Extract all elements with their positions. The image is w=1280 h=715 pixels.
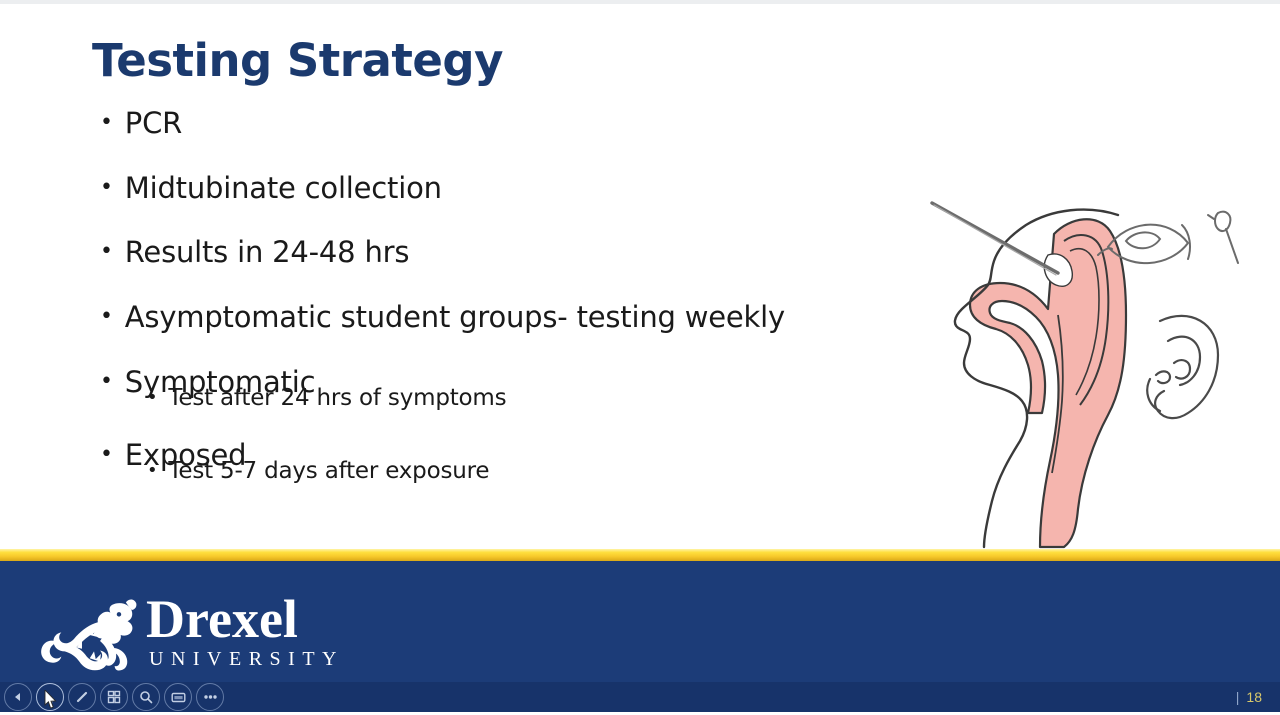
page-number: 18 (1246, 689, 1262, 705)
bullet-text: PCR (125, 108, 880, 139)
previous-slide-button[interactable] (4, 683, 32, 711)
bullet-list: •PCR•Midtubinate collection•Results in 2… (100, 108, 880, 513)
page-separator: | (1236, 689, 1240, 705)
pointer-tool-button[interactable] (36, 683, 64, 711)
bullet-marker-icon: • (147, 459, 157, 480)
drexel-wordmark: Drexel UNIVERSITY (146, 594, 344, 670)
bullet-text: Asymptomatic student groups- testing wee… (125, 302, 880, 333)
bullet-marker-icon: • (100, 108, 113, 134)
bullet-marker-icon: • (100, 367, 113, 393)
slide-footer: Drexel UNIVERSITY (0, 561, 1280, 712)
drexel-dragon-logo (36, 598, 140, 672)
presentation-toolbar: | 18 (0, 682, 1280, 712)
slide-thumbnails-button[interactable] (100, 683, 128, 711)
nasal-swab-anatomy-diagram (912, 189, 1252, 549)
bullet-item: •Test after 24 hrs of symptoms (147, 386, 880, 410)
presenter-view-button[interactable] (164, 683, 192, 711)
display-icon (171, 691, 186, 704)
bullet-marker-icon: • (100, 440, 113, 466)
page-title: Testing Strategy (92, 34, 503, 87)
brand-name: Drexel (146, 594, 298, 646)
left-triangle-icon (12, 691, 24, 703)
bullet-marker-icon: • (100, 237, 113, 263)
gold-divider-bar (0, 549, 1280, 561)
bullet-item: •Asymptomatic student groups- testing we… (100, 302, 880, 333)
zoom-tool-button[interactable] (132, 683, 160, 711)
pen-tool-button[interactable] (68, 683, 96, 711)
bullet-item: •Results in 24-48 hrs (100, 237, 880, 268)
pointer-icon (44, 691, 56, 704)
bullet-text: Midtubinate collection (125, 173, 880, 204)
bullet-marker-icon: • (147, 386, 157, 407)
more-options-button[interactable] (196, 683, 224, 711)
bullet-text: Results in 24-48 hrs (125, 237, 880, 268)
toolbar-button-group (0, 683, 224, 711)
brand-subtitle: UNIVERSITY (149, 648, 344, 670)
grid-icon (107, 690, 121, 704)
ellipsis-icon (203, 694, 218, 700)
bullet-marker-icon: • (100, 302, 113, 328)
presentation-viewer: Testing Strategy •PCR•Midtubinate collec… (0, 0, 1280, 712)
drexel-brand-lockup: Drexel UNIVERSITY (36, 594, 344, 672)
bullet-item: •PCR (100, 108, 880, 139)
bullet-item: •Midtubinate collection (100, 173, 880, 204)
magnifier-icon (139, 690, 153, 704)
bullet-item: •Test 5-7 days after exposure (147, 459, 880, 483)
page-indicator[interactable]: | 18 (1236, 689, 1262, 705)
bullet-text: Test after 24 hrs of symptoms (168, 386, 880, 410)
bullet-text: Test 5-7 days after exposure (168, 459, 880, 483)
bullet-marker-icon: • (100, 173, 113, 199)
slide-canvas: Testing Strategy •PCR•Midtubinate collec… (0, 4, 1280, 549)
pen-icon (75, 690, 89, 704)
